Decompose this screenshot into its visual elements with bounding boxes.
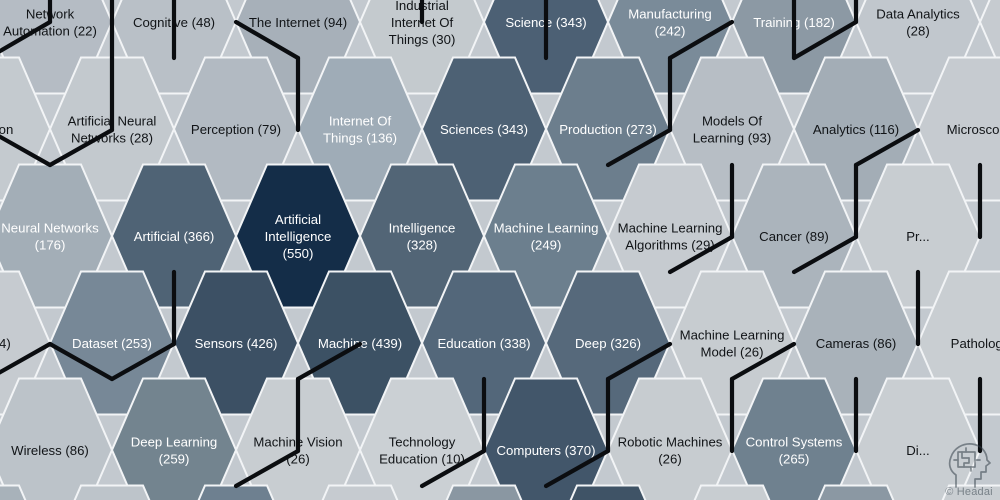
hex-tile-layer[interactable]: NetworkAutomation (22)Cognitive (48)The … — [0, 0, 1000, 500]
hexagon-grid[interactable]: NetworkAutomation (22)Cognitive (48)The … — [0, 0, 1000, 500]
hex-map-canvas[interactable]: NetworkAutomation (22)Cognitive (48)The … — [0, 0, 1000, 500]
